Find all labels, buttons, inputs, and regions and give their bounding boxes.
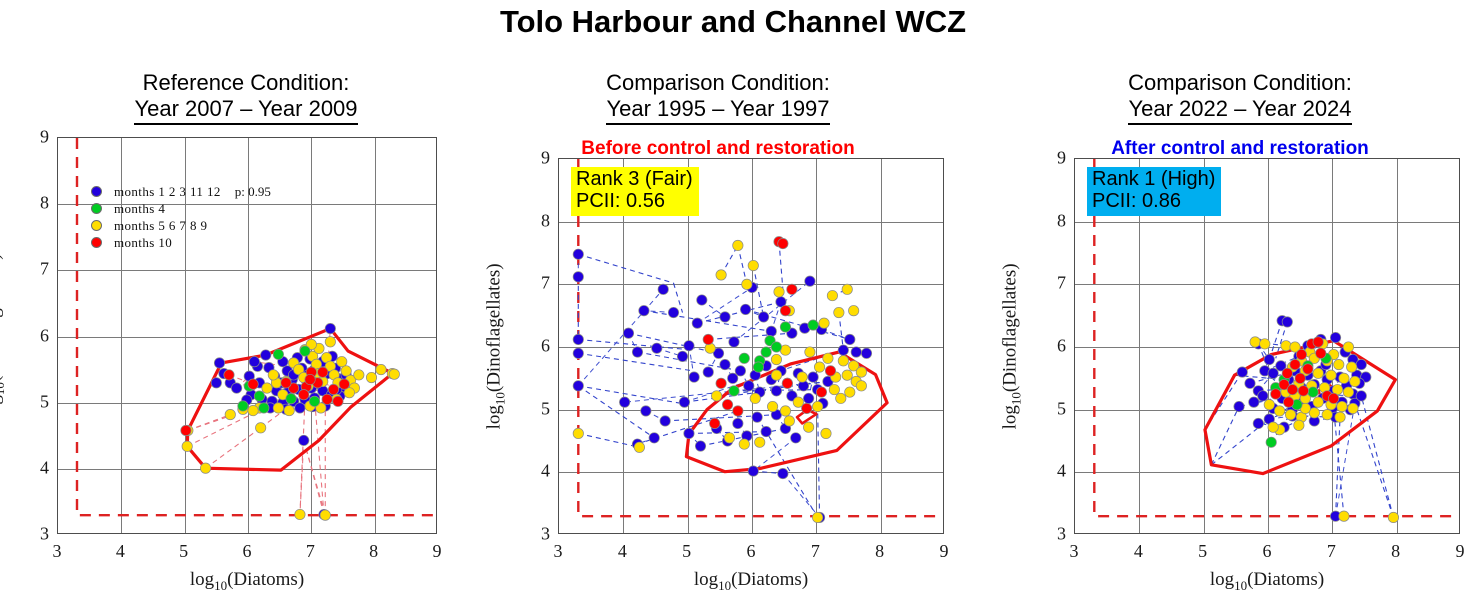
data-point [325,323,335,333]
rank-label: Rank 3 (Fair) [576,168,693,190]
data-point [337,356,347,366]
data-point [742,279,752,289]
y-tick-label: 3 [520,524,550,545]
panel-title-comparison_1995_1997: Comparison Condition:Year 1995 – Year 19… [492,70,944,125]
data-point [761,347,771,357]
y-tick-label: 7 [1036,273,1066,294]
data-point [322,394,332,404]
data-point [856,367,866,377]
data-point [1282,368,1292,378]
data-point [848,305,858,315]
x-tick-label: 3 [1070,541,1079,562]
y-tick-label: 4 [19,457,49,478]
y-tick-label: 8 [1036,210,1066,231]
data-point [1287,384,1297,394]
x-tick-label: 9 [1456,541,1465,562]
data-point [273,349,283,359]
data-point [729,337,739,347]
data-point [238,401,248,411]
data-point [782,378,792,388]
plot-area-reference: months 1 2 3 11 12p: 0.95months 4months … [57,137,437,534]
data-point [573,381,583,391]
data-point [641,406,651,416]
data-point [248,379,258,389]
data-point [748,466,758,476]
data-point [695,441,705,451]
data-point [684,428,694,438]
data-point [225,409,235,419]
data-point [720,359,730,369]
data-point [684,341,694,351]
legend-marker-icon [91,186,102,197]
data-point [318,367,328,377]
panel-title-line1: Comparison Condition: [492,70,944,96]
data-point [224,370,234,380]
data-point [797,372,807,382]
data-point [248,405,258,415]
data-point [261,350,271,360]
data-point [842,370,852,380]
data-point [750,393,760,403]
panel-subtitle-comparison_2022_2024: After control and restoration [1014,138,1466,160]
data-point [1260,339,1270,349]
x-axis-title: log10(Diatoms) [1074,569,1460,594]
data-point [780,406,790,416]
x-tick-label: 8 [369,541,378,562]
data-point [1313,337,1323,347]
panel-title-reference: Reference Condition:Year 2007 – Year 200… [0,70,492,125]
legend-p-value: p: 0.95 [235,184,271,200]
data-point [573,272,583,282]
data-point [254,391,264,401]
data-point [341,366,351,376]
data-point [761,426,771,436]
legend-label: months 4 [114,201,165,217]
data-point [1258,391,1268,401]
y-tick-label: 4 [1036,461,1066,482]
data-point [808,372,818,382]
data-point [1249,397,1259,407]
y-tick-label: 9 [19,127,49,148]
data-point [720,312,730,322]
y-tick-label: 6 [520,336,550,357]
data-point [677,351,687,361]
y-tick-label: 4 [520,461,550,482]
data-point [752,412,762,422]
data-point [808,320,818,330]
data-point [740,304,750,314]
x-axis-title: log10(Diatoms) [558,569,944,594]
y-tick-label: 6 [19,325,49,346]
data-point [1313,397,1323,407]
legend-marker-icon [91,220,102,231]
x-tick-label: 7 [1327,541,1336,562]
data-point [825,366,835,376]
data-point [268,370,278,380]
data-point [1271,389,1281,399]
data-point [801,403,811,413]
rank-label: Rank 1 (High) [1092,168,1215,190]
data-point [744,381,754,391]
data-point [733,418,743,428]
data-point [842,284,852,294]
legend-label: months 10 [114,235,172,251]
data-point [259,403,269,413]
data-point [573,249,583,259]
series-months_5_6_7_8_9 [1250,337,1399,523]
legend-item-3: months 10 [91,234,271,251]
data-point [1337,401,1347,411]
plot-area-comparison_2022_2024: Rank 1 (High)PCII: 0.86 [1074,158,1460,534]
data-point [829,384,839,394]
data-point [780,322,790,332]
data-point [249,356,259,366]
x-tick-label: 7 [306,541,315,562]
data-point [632,347,642,357]
data-point [1303,364,1313,374]
data-point [1343,342,1353,352]
data-point [816,387,826,397]
data-point [200,463,210,473]
panel-subtitle-comparison_1995_1997: Before control and restoration [492,138,944,160]
data-point [791,433,801,443]
data-point [774,287,784,297]
data-point [845,334,855,344]
data-point [262,383,272,393]
data-point [1298,386,1308,396]
y-tick-label: 5 [1036,398,1066,419]
data-point [1328,393,1338,403]
data-point [658,284,668,294]
panel-title-line1: Reference Condition: [0,70,492,96]
figure-root: Tolo Harbour and Channel WCZ Reference C… [0,0,1466,604]
data-point [739,439,749,449]
data-point [1268,422,1278,432]
data-point [639,305,649,315]
data-point [758,312,768,322]
panel-comparison_1995_1997: Comparison Condition:Year 1995 – Year 19… [492,0,944,604]
data-point [1313,368,1323,378]
y-tick-label: 5 [19,391,49,412]
legend-item-1: months 4 [91,200,271,217]
data-point [755,437,765,447]
data-point [231,383,241,393]
data-point [1348,403,1358,413]
data-point [1282,317,1292,327]
data-point [273,403,283,413]
data-point [325,337,335,347]
y-tick-label: 3 [1036,524,1066,545]
data-point [339,379,349,389]
x-tick-label: 6 [1263,541,1272,562]
data-point [366,372,376,382]
data-point [1326,370,1336,380]
data-point [703,334,713,344]
data-point [812,512,822,522]
data-point [728,373,738,383]
data-point [711,391,721,401]
data-point [181,425,191,435]
data-point [1316,348,1326,358]
data-point [716,378,726,388]
data-point [182,441,192,451]
data-point [784,416,794,426]
y-axis-title: log10(Dinoflagellates) [0,137,7,534]
data-point [1264,399,1274,409]
data-point [1245,378,1255,388]
data-point [299,390,309,400]
x-tick-label: 4 [116,541,125,562]
panel-title-line2: Year 1995 – Year 1997 [606,96,829,125]
x-tick-label: 8 [1391,541,1400,562]
data-point [1294,420,1304,430]
data-point [668,307,678,317]
x-tick-label: 8 [875,541,884,562]
legend-item-2: months 5 6 7 8 9 [91,217,271,234]
panel-title-line1: Comparison Condition: [1014,70,1466,96]
data-point [573,428,583,438]
data-point [771,354,781,364]
data-point [1322,409,1332,419]
data-point [733,240,743,250]
data-point [652,343,662,353]
data-point [214,358,224,368]
data-point [1339,511,1349,521]
x-tick-label: 6 [747,541,756,562]
data-point [1285,409,1295,419]
data-point [709,418,719,428]
x-axis-title: log10(Diatoms) [57,569,437,594]
data-point [1283,397,1293,407]
pcii-label: PCII: 0.56 [576,190,693,212]
data-point [821,428,831,438]
data-point [1335,412,1345,422]
data-point [295,509,305,519]
data-point [281,378,291,388]
legend-marker-icon [91,203,102,214]
data-point [1356,359,1366,369]
data-point [1237,367,1247,377]
data-point [389,369,399,379]
data-point [753,362,763,372]
data-point [660,416,670,426]
y-tick-label: 9 [520,148,550,169]
y-tick-label: 7 [19,259,49,280]
data-point [309,396,319,406]
data-point [733,406,743,416]
panel-title-line2: Year 2007 – Year 2009 [134,96,357,125]
data-point [834,307,844,317]
data-point [1350,376,1360,386]
legend-marker-icon [91,237,102,248]
data-point [692,318,702,328]
data-point [845,387,855,397]
y-tick-label: 7 [520,273,550,294]
x-tick-label: 4 [1134,541,1143,562]
x-tick-label: 7 [811,541,820,562]
data-point [838,356,848,366]
y-axis-title: log10(Dinoflagellates) [484,158,509,534]
data-point [856,381,866,391]
x-tick-label: 3 [53,541,62,562]
data-point [300,346,310,356]
data-point [573,348,583,358]
y-tick-label: 5 [520,398,550,419]
data-point [1339,373,1349,383]
data-point [1334,359,1344,369]
data-point [838,345,848,355]
x-tick-label: 5 [1198,541,1207,562]
data-point [771,386,781,396]
data-point [284,405,294,415]
data-point [1290,359,1300,369]
data-point [1274,406,1284,416]
data-point [376,364,386,374]
data-point [805,347,815,357]
data-point [729,386,739,396]
rank-badge-comparison_2022_2024: Rank 1 (High)PCII: 0.86 [1087,167,1221,216]
data-point [623,328,633,338]
data-point [771,370,781,380]
data-point [1330,332,1340,342]
data-point [1264,354,1274,364]
panel-reference: Reference Condition:Year 2007 – Year 200… [0,0,492,604]
data-point [354,370,364,380]
data-point [716,270,726,280]
data-point [823,353,833,363]
legend-label: months 1 2 3 11 12 [114,184,221,200]
data-point [333,396,343,406]
data-point [748,260,758,270]
rank-badge-comparison_1995_1997: Rank 3 (Fair)PCII: 0.56 [571,167,699,216]
data-point [805,276,815,286]
data-point [739,353,749,363]
data-point [573,334,583,344]
data-point [787,284,797,294]
x-tick-label: 4 [618,541,627,562]
x-tick-label: 5 [179,541,188,562]
data-point [1253,418,1263,428]
data-point [320,510,330,520]
x-tick-label: 9 [940,541,949,562]
data-point [771,342,781,352]
legend-item-0: months 1 2 3 11 12p: 0.95 [91,183,271,200]
data-point [211,378,221,388]
data-point [766,326,776,336]
data-point [724,433,734,443]
data-point [255,423,265,433]
data-point [689,372,699,382]
data-point [286,393,296,403]
data-point [619,397,629,407]
data-point [778,238,788,248]
data-point [778,468,788,478]
data-point [697,295,707,305]
y-tick-label: 8 [520,210,550,231]
data-point [679,397,689,407]
x-tick-label: 5 [682,541,691,562]
data-point [851,347,861,357]
data-point [814,362,824,372]
data-point [803,422,813,432]
y-tick-label: 6 [1036,336,1066,357]
data-point [649,433,659,443]
data-point [780,305,790,315]
data-point [836,393,846,403]
data-point [1356,391,1366,401]
data-point [819,318,829,328]
legend-label: months 5 6 7 8 9 [114,218,207,234]
data-point [735,366,745,376]
data-point [305,374,315,384]
x-tick-label: 6 [243,541,252,562]
data-point [1308,387,1318,397]
pcii-label: PCII: 0.86 [1092,190,1215,212]
y-tick-label: 8 [19,193,49,214]
data-point [812,401,822,411]
data-point [827,290,837,300]
data-point [722,399,732,409]
data-point [1295,373,1305,383]
data-point [295,403,305,413]
data-point [634,442,644,452]
x-tick-label: 3 [554,541,563,562]
panel-title-line2: Year 2022 – Year 2024 [1128,96,1351,125]
plot-area-comparison_1995_1997: Rank 3 (Fair)PCII: 0.56 [558,158,944,534]
x-tick-label: 9 [433,541,442,562]
data-point [1346,362,1356,372]
data-point [1268,368,1278,378]
data-point [1234,401,1244,411]
data-point [1388,512,1398,522]
panel-title-comparison_2022_2024: Comparison Condition:Year 2022 – Year 20… [1014,70,1466,125]
data-point [299,435,309,445]
data-point [328,384,338,394]
data-point [703,367,713,377]
panel-comparison_2022_2024: Comparison Condition:Year 2022 – Year 20… [1014,0,1466,604]
data-point [1266,437,1276,447]
data-point [1296,349,1306,359]
y-axis-title: log10(Dinoflagellates) [1000,158,1025,534]
data-point [861,348,871,358]
y-tick-label: 3 [19,524,49,545]
y-tick-label: 9 [1036,148,1066,169]
data-point [767,401,777,411]
data-point [1343,387,1353,397]
data-point [1250,337,1260,347]
legend: months 1 2 3 11 12p: 0.95months 4months … [91,183,271,251]
data-point [803,393,813,403]
